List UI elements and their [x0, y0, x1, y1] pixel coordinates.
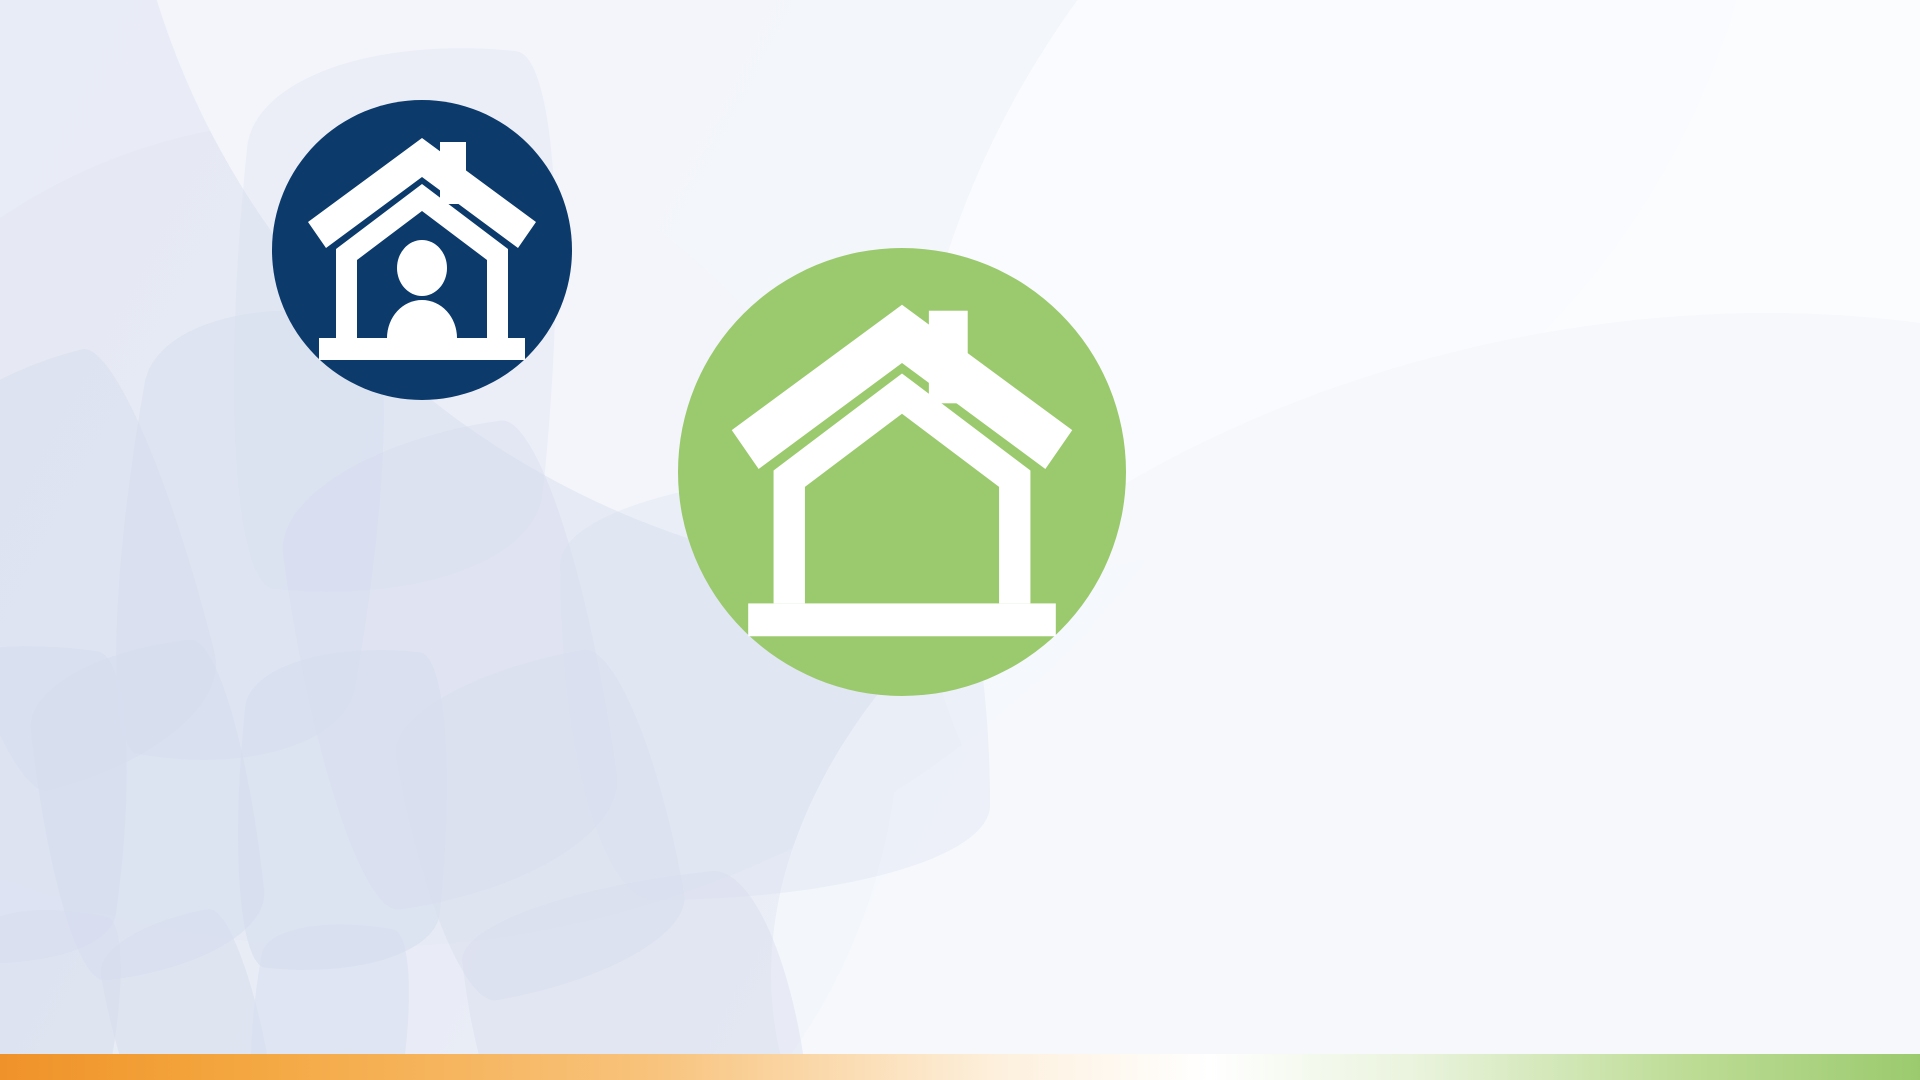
slide-canvas: [0, 0, 1920, 1080]
home-with-person-icon: [272, 100, 572, 400]
home-icon: [678, 248, 1126, 696]
accent-gradient-bar: [0, 1054, 1920, 1080]
badge-home-with-person: [272, 100, 572, 400]
badge-home: [678, 248, 1126, 696]
